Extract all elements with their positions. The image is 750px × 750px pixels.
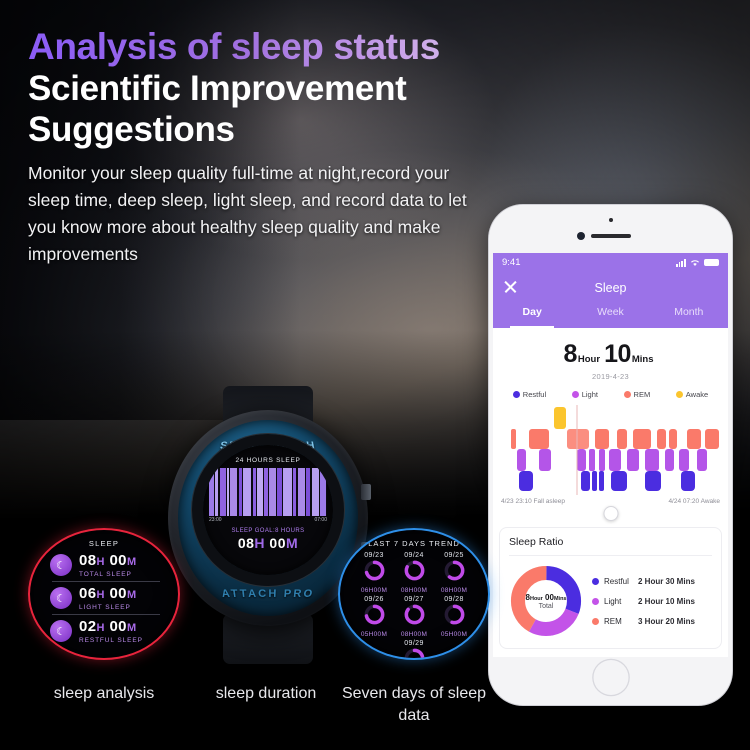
analysis-light-minutes-unit: M: [127, 589, 137, 601]
earpiece-icon: [591, 234, 631, 238]
donut-center-label: 8Hour 00Mins Total: [509, 564, 583, 638]
ratio-dot-rem: [592, 618, 599, 625]
ratio-value-rem: 3 Hour 20 Mins: [638, 617, 695, 626]
phone-top-bezel: [489, 205, 732, 253]
seven-day-hours: 06H00M: [354, 587, 394, 594]
seven-day-hours: 08H00M: [434, 587, 474, 594]
progress-ring-icon: [404, 560, 425, 581]
phone-mockup: 9:41 Sleep Day Week Month 8Hour10Mins: [489, 205, 732, 705]
analysis-total-minutes-unit: M: [127, 556, 137, 568]
headline-block: Analysis of sleep status Scientific Impr…: [28, 26, 498, 150]
moon-zzz-icon: ☾: [50, 554, 72, 576]
tab-month[interactable]: Month: [650, 306, 728, 328]
awake-label: 4/24 07:20 Awake: [668, 498, 720, 505]
fall-asleep-label: 4/23 23:10 Fall asleep: [501, 498, 565, 505]
caption-sleep-analysis: sleep analysis: [18, 683, 190, 705]
ratio-row-rem: REM 3 Hour 20 Mins: [592, 617, 712, 626]
legend-item-light: Light: [572, 390, 598, 399]
seven-day-date: 09/27: [394, 596, 434, 603]
sleep-stage-chart: [499, 405, 722, 497]
duration-hours: 8: [563, 340, 576, 368]
headline-line-2: Scientific Improvement: [28, 68, 498, 109]
analysis-row-light: ☾ 06H 00M LIGHT SLEEP: [30, 581, 178, 614]
donut-hours-unit: Hour: [530, 596, 543, 602]
sleep-ratio-rows: Restful 2 Hour 30 Mins Light 2 Hour 10 M…: [592, 577, 712, 626]
headline-line-3: Suggestions: [28, 109, 498, 150]
analysis-light-value: 06H 00M: [79, 585, 137, 602]
status-bar-time: 9:41: [502, 257, 521, 268]
ratio-value-light: 2 Hour 10 Mins: [638, 597, 695, 606]
analysis-light-minutes: 00: [109, 585, 127, 602]
page-title: Sleep: [493, 281, 728, 295]
dial-total-hours: 08: [238, 535, 255, 551]
legend-item-rem: REM: [624, 390, 651, 399]
ratio-name-rem: REM: [604, 617, 638, 626]
progress-ring-icon: [364, 560, 385, 581]
callout-seven-days: LAST 7 DAYS TREND 09/23 06H00M 09/24 08H…: [338, 528, 490, 660]
seven-day-cell: 09/29: [394, 640, 434, 660]
analysis-restful-value: 02H 00M: [79, 618, 137, 635]
analysis-row-total: ☾ 08H 00M TOTAL SLEEP: [30, 548, 178, 581]
sleep-summary: 8Hour10Mins 2019-4-23: [493, 328, 728, 381]
dial-total-minutes: 00: [269, 535, 286, 551]
seven-day-hours: 08H00M: [394, 587, 434, 594]
seven-day-cell: 09/26 05H00M: [354, 596, 394, 638]
sensor-icon: [609, 218, 613, 222]
divider: [509, 555, 712, 556]
legend-label-light: Light: [582, 390, 598, 399]
analysis-total-minutes: 00: [109, 552, 127, 569]
sleep-ratio-donut: 8Hour 00Mins Total: [509, 564, 583, 638]
ratio-name-restful: Restful: [604, 577, 638, 586]
analysis-total-label: TOTAL SLEEP: [79, 571, 137, 578]
dial-time-start: 23:00: [209, 517, 222, 523]
legend-dot-awake: [676, 391, 683, 398]
analysis-total-value: 08H 00M: [79, 552, 137, 569]
seven-day-cell: 09/23 06H00M: [354, 552, 394, 594]
progress-ring-icon: [364, 604, 385, 625]
legend-label-restful: Restful: [523, 390, 546, 399]
scrubber-handle[interactable]: [603, 506, 618, 521]
legend-dot-restful: [513, 391, 520, 398]
progress-ring-icon: [404, 604, 425, 625]
seven-day-date: 09/26: [354, 596, 394, 603]
dial-total-sleep: 08H 00M: [203, 535, 333, 551]
wifi-icon: [690, 259, 700, 267]
analysis-restful-hours-unit: H: [97, 622, 105, 634]
legend-item-restful: Restful: [513, 390, 546, 399]
chart-scrubber[interactable]: [493, 505, 728, 523]
nav-bar: Sleep: [493, 272, 728, 306]
dial-total-minutes-unit: M: [286, 535, 298, 551]
seven-day-date: 09/24: [394, 552, 434, 559]
analysis-light-hours: 06: [79, 585, 97, 602]
dial-time-axis: 23:00 07:00: [203, 516, 333, 523]
analysis-light-label: LIGHT SLEEP: [79, 604, 137, 611]
sleep-ratio-card: Sleep Ratio 8Hour 00Mins T: [500, 528, 721, 648]
seven-day-date: 09/25: [434, 552, 474, 559]
caption-sleep-duration: sleep duration: [182, 683, 350, 705]
status-bar: 9:41: [493, 253, 728, 272]
progress-ring-icon: [404, 648, 425, 660]
cellular-bars-icon: [676, 259, 686, 267]
headline-line-1: Analysis of sleep status: [28, 26, 498, 68]
donut-minutes: 00: [545, 593, 554, 602]
total-duration: 8Hour10Mins: [493, 340, 728, 369]
analysis-restful-minutes-unit: M: [127, 622, 137, 634]
seven-day-date: 09/28: [434, 596, 474, 603]
duration-minutes: 10: [604, 340, 631, 368]
duration-minutes-unit: Mins: [632, 354, 654, 365]
ratio-dot-restful: [592, 578, 599, 585]
battery-icon: [704, 259, 719, 266]
moon-icon: ☾: [50, 587, 72, 609]
sleep-ratio-title: Sleep Ratio: [509, 536, 712, 548]
moon-zzz-icon-2: ☾: [50, 620, 72, 642]
home-button[interactable]: [593, 660, 628, 695]
seven-day-hours: 05H00M: [434, 631, 474, 638]
seven-day-cell: 09/27 08H00M: [394, 596, 434, 638]
chart-axis-labels: 4/23 23:10 Fall asleep 4/24 07:20 Awake: [493, 497, 728, 505]
phone-screen: 9:41 Sleep Day Week Month 8Hour10Mins: [493, 253, 728, 657]
watch-button-top[interactable]: [361, 484, 371, 500]
analysis-restful-hours: 02: [79, 618, 97, 635]
dial-total-hours-unit: H: [254, 535, 265, 551]
analysis-total-hours-unit: H: [97, 556, 105, 568]
summary-date: 2019-4-23: [493, 372, 728, 381]
ratio-name-light: Light: [604, 597, 638, 606]
ratio-row-restful: Restful 2 Hour 30 Mins: [592, 577, 712, 586]
caption-seven-days: Seven days of sleep data: [338, 683, 490, 727]
legend-item-awake: Awake: [676, 390, 708, 399]
donut-minutes-unit: Mins: [554, 596, 567, 602]
body-paragraph: Monitor your sleep quality full-time at …: [28, 160, 488, 268]
donut-total-label: Total: [539, 603, 554, 610]
legend-label-rem: REM: [634, 390, 651, 399]
seven-day-hours: 05H00M: [354, 631, 394, 638]
ratio-dot-light: [592, 598, 599, 605]
period-tabs: Day Week Month: [493, 306, 728, 328]
dial-sleep-bars: [209, 468, 327, 516]
analysis-light-hours-unit: H: [97, 589, 105, 601]
analysis-total-hours: 08: [79, 552, 97, 569]
legend-dot-light: [572, 391, 579, 398]
ratio-row-light: Light 2 Hour 10 Mins: [592, 597, 712, 606]
dial-sleep-goal: SLEEP GOAL:8 HOURS: [203, 528, 333, 534]
duration-hours-unit: Hour: [578, 354, 600, 365]
callout-sleep-analysis: SLEEP ☾ 08H 00M TOTAL SLEEP ☾ 06H 00M LI…: [28, 528, 180, 660]
seven-day-cell: 09/25 08H00M: [434, 552, 474, 594]
dial-time-end: 07:00: [314, 517, 327, 523]
ratio-value-restful: 2 Hour 30 Mins: [638, 577, 695, 586]
sleep-stage-svg: [499, 405, 722, 497]
progress-ring-icon: [444, 560, 465, 581]
analysis-restful-label: RESTFUL SLEEP: [79, 637, 143, 644]
seven-day-cell: 09/28 05H00M: [434, 596, 474, 638]
analysis-restful-minutes: 00: [109, 618, 127, 635]
tab-day[interactable]: Day: [493, 306, 571, 328]
seven-day-hours: 08H00M: [394, 631, 434, 638]
seven-day-date: 09/29: [394, 640, 434, 647]
seven-day-cell: 09/24 08H00M: [394, 552, 434, 594]
watch-dial: 24 HOURS SLEEP: [203, 445, 333, 575]
chart-legend: Restful Light REM Awake: [493, 381, 728, 403]
camera-icon: [577, 232, 585, 240]
progress-ring-icon: [444, 604, 465, 625]
analysis-row-restful: ☾ 02H 00M RESTFUL SLEEP: [30, 614, 178, 647]
legend-label-awake: Awake: [686, 390, 708, 399]
legend-dot-rem: [624, 391, 631, 398]
seven-day-date: 09/23: [354, 552, 394, 559]
tab-week[interactable]: Week: [571, 306, 649, 328]
